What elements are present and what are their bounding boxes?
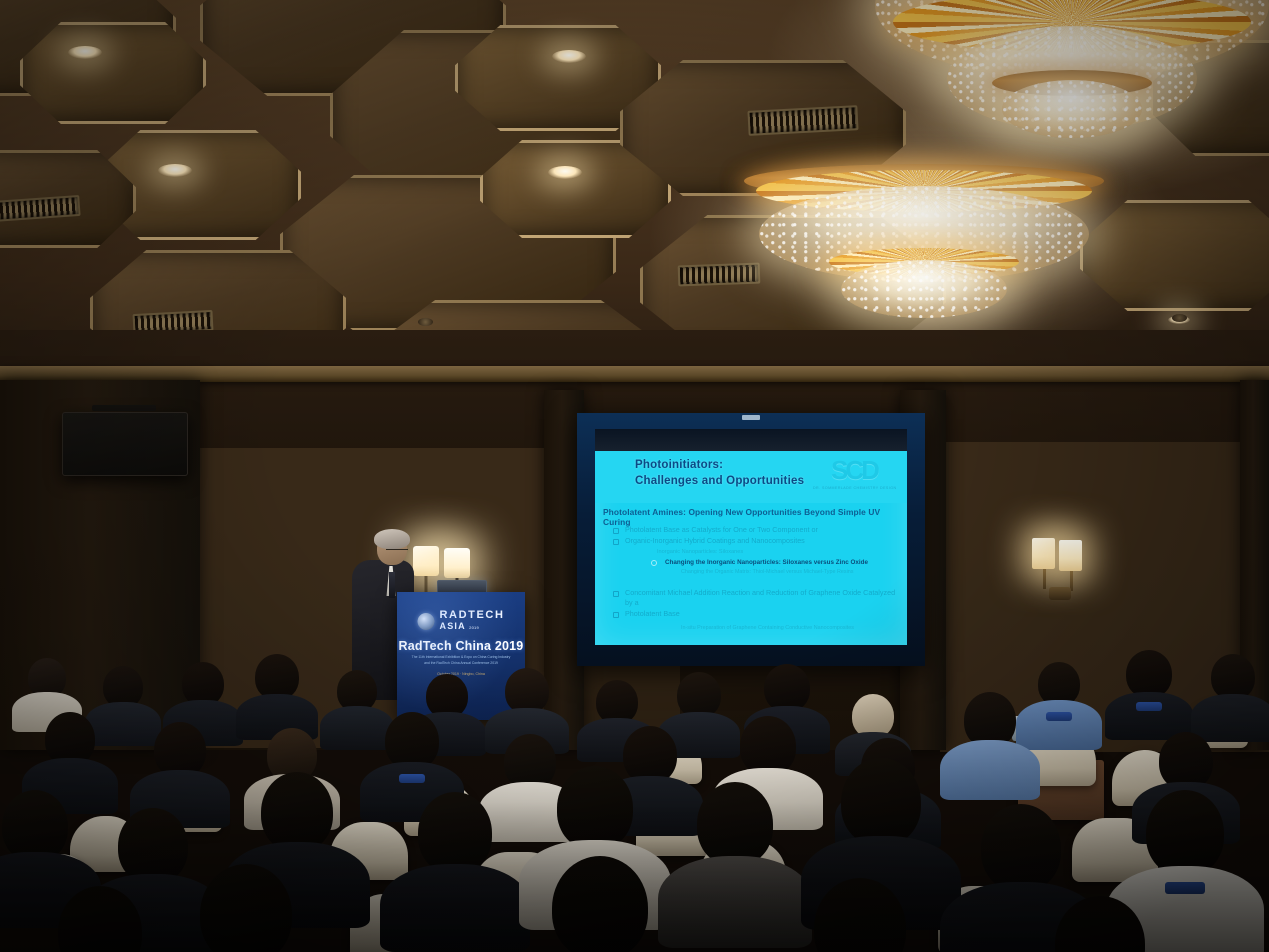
slide-bullet: Photolatent Base <box>605 609 901 618</box>
radtech-logo-year: 2019 <box>469 625 479 630</box>
attendee-head <box>981 804 1061 892</box>
audience-member <box>1122 650 1176 722</box>
slide-logo-tagline: DR. SOMMERLADE CHEMISTRY DESIGN <box>813 486 895 490</box>
audience-member <box>330 670 384 738</box>
podium-table-lamp <box>444 548 470 578</box>
attendee-head <box>841 758 921 846</box>
slide-body: Photolatent Base as Catalysts for One or… <box>605 525 901 634</box>
audience-member <box>672 672 726 740</box>
audience-member <box>986 804 1056 944</box>
attendee-head <box>418 792 492 874</box>
audience-member <box>382 712 442 802</box>
conference-lanyard <box>399 774 425 783</box>
attendee-head <box>557 766 633 850</box>
sconce-shade <box>1059 540 1082 571</box>
attendee-shoulders <box>658 856 812 948</box>
audience-member <box>960 692 1020 784</box>
audience-member <box>96 666 150 734</box>
sconce-base <box>1049 587 1071 600</box>
attendee-head <box>1146 790 1224 876</box>
sconce-shade <box>1032 538 1055 569</box>
slide-subtitle: Photolatent Amines: Opening New Opportun… <box>603 507 903 527</box>
attendee-head <box>764 664 810 712</box>
slide-bullet-text: Changing the Inorganic Nanoparticles: Si… <box>605 558 901 567</box>
audience-member <box>150 722 210 808</box>
slide-bullet-text: Photolatent Base <box>605 609 901 618</box>
attendee-head <box>814 878 906 952</box>
attendee-shoulders <box>380 864 530 952</box>
slide-bullet-text: Concomitant Michael Addition Reaction an… <box>605 588 901 607</box>
sconce-arm <box>1043 569 1046 589</box>
slide-bullet-text: Inorganic Nanoparticles: Siloxanes <box>605 548 901 556</box>
conference-lanyard <box>1136 702 1162 711</box>
audience-member <box>500 734 560 824</box>
attendee-shoulders-blue <box>1016 700 1102 750</box>
slide-bullet-text: Photolatent Base as Catalysts for One or… <box>605 525 901 534</box>
slide-bullet: Concomitant Michael Addition Reaction an… <box>605 588 901 607</box>
audience-member <box>1150 790 1220 930</box>
attendee-head <box>740 716 796 776</box>
lamp-shade <box>413 546 439 576</box>
wall-sconce <box>1032 538 1092 600</box>
slide-title-line2: Challenges and Opportunities <box>635 475 804 487</box>
attendee-head <box>200 864 292 952</box>
attendee-head <box>1055 896 1145 952</box>
audience-member <box>250 654 304 722</box>
attendee-head <box>261 772 333 852</box>
glasses-icon <box>386 549 408 556</box>
smoke-detector-icon <box>418 318 433 326</box>
ceiling-downlight <box>158 164 192 177</box>
slide-bullet: Photolatent Base as Catalysts for One or… <box>605 525 901 534</box>
speaker-mount-bracket <box>92 405 156 411</box>
conference-lanyard <box>1165 882 1205 894</box>
audience-member <box>1032 662 1086 734</box>
ceiling-downlight <box>552 50 586 63</box>
ceiling-downlight <box>548 166 582 179</box>
smoke-detector-icon <box>1172 314 1187 322</box>
podium-table-lamp <box>413 546 439 576</box>
attendee-head <box>58 886 142 952</box>
slide-bullet: Changing the Organic Matrix: Thiol-Micha… <box>605 569 901 577</box>
audience-member <box>420 792 490 927</box>
radtech-logo-line2: ASIA 2019 <box>440 621 505 633</box>
audience <box>0 640 1269 952</box>
audience-member <box>846 758 916 898</box>
audience-member <box>206 864 286 952</box>
ceiling-coffer <box>20 22 206 124</box>
attendee-shoulders-blue <box>940 740 1040 800</box>
presentation-slide: Photoinitiators: Challenges and Opportun… <box>595 451 907 645</box>
audience-member <box>176 662 230 730</box>
screen-roller-tab <box>742 415 760 420</box>
crystal-beads <box>841 260 1007 318</box>
slide-title-line1: Photoinitiators: <box>635 459 723 471</box>
slide-bullet-highlight: Changing the Inorganic Nanoparticles: Si… <box>605 558 901 567</box>
radtech-logo-text: RADTECH ASIA 2019 <box>440 610 505 633</box>
radtech-asia-logo: RADTECH ASIA 2019 <box>418 610 505 633</box>
audience-member <box>1060 896 1140 952</box>
attendee-head <box>118 808 188 884</box>
slide-bullet-text: In-situ Preparation of Graphene Containi… <box>605 625 901 633</box>
radtech-logo-line1: RADTECH <box>440 610 505 621</box>
slide-bullet-text: Organic-Inorganic Hybrid Coatings and Na… <box>605 536 901 545</box>
slide-bullet-text: Changing the Organic Matrix: Thiol-Micha… <box>605 569 901 577</box>
attendee-head <box>697 782 773 866</box>
projection-screen: Photoinitiators: Challenges and Opportun… <box>577 413 925 666</box>
slide-bullet: Inorganic Nanoparticles: Siloxanes <box>605 548 901 556</box>
conference-hall-photo: Photoinitiators: Challenges and Opportun… <box>0 0 1269 952</box>
crystal-beads <box>1002 80 1142 138</box>
lamp-shade <box>444 548 470 578</box>
radtech-logo-asia: ASIA <box>440 621 466 631</box>
slide-bullet: Organic-Inorganic Hybrid Coatings and Na… <box>605 536 901 545</box>
screen-dark-band <box>595 429 907 452</box>
audience-member <box>560 856 640 952</box>
audience-member <box>820 878 900 952</box>
attendee-head <box>552 856 648 952</box>
audience-member <box>1206 654 1260 726</box>
slide-logo: SCD DR. SOMMERLADE CHEMISTRY DESIGN <box>813 457 895 497</box>
ceiling-downlight <box>68 46 102 59</box>
audience-member <box>700 782 770 920</box>
pa-speaker <box>62 412 188 476</box>
presenter-tie <box>389 572 395 598</box>
audience-member <box>500 668 554 736</box>
chandelier-tier <box>1002 80 1142 138</box>
attendee-head <box>1126 650 1172 698</box>
chandelier-tier <box>841 260 1007 318</box>
audience-member <box>40 712 100 798</box>
ceiling-coffer <box>1080 200 1269 311</box>
chandelier-right-top <box>875 0 1269 155</box>
conference-lanyard <box>1046 712 1072 721</box>
radtech-globe-icon <box>418 613 435 630</box>
chandelier-center <box>742 160 1106 325</box>
presenter-hair <box>374 529 410 549</box>
slide-bullet: In-situ Preparation of Graphene Containi… <box>605 625 901 633</box>
audience-member <box>60 886 140 952</box>
scd-logo-icon: SCD <box>813 457 895 483</box>
